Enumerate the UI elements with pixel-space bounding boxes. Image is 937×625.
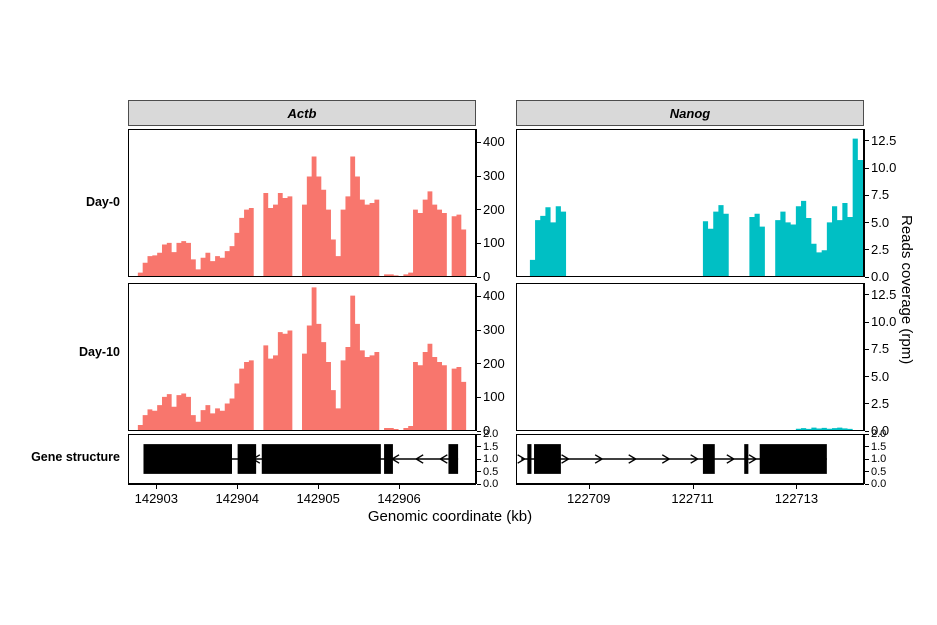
nanog-gene-y-tick-label: 1.0 bbox=[871, 453, 886, 465]
facet-strip-actb: Actb bbox=[128, 100, 476, 126]
nanog-gene-y-tick-label: 1.5 bbox=[871, 441, 886, 453]
actb-day10-y-axis-spine bbox=[476, 283, 477, 431]
exon-block bbox=[262, 444, 381, 474]
actb-day0-y-tick-label: 400 bbox=[483, 134, 505, 149]
actb-gene-y-tick-label: 1.5 bbox=[483, 441, 498, 453]
nanog-x-tick bbox=[796, 485, 797, 489]
nanog-day0-y-tick-label: 5.0 bbox=[871, 215, 889, 230]
nanog-gene-y-tick bbox=[865, 484, 869, 485]
panel-gene-structure-actb bbox=[128, 434, 476, 484]
nanog-x-tick bbox=[589, 485, 590, 489]
nanog-day0-y-tick-label: 12.5 bbox=[871, 133, 896, 148]
actb-x-tick bbox=[237, 485, 238, 489]
actb-day10-y-tick-label: 100 bbox=[483, 389, 505, 404]
nanog-day10-y-tick-label: 12.5 bbox=[871, 287, 896, 302]
nanog-gene-y-tick bbox=[865, 471, 869, 472]
nanog-day10-y-tick-label: 2.5 bbox=[871, 396, 889, 411]
nanog-x-axis-line bbox=[516, 484, 864, 485]
exon-block bbox=[143, 444, 232, 474]
exon-block bbox=[448, 444, 458, 474]
nanog-day10-y-tick bbox=[865, 403, 869, 404]
actb-x-tick bbox=[399, 485, 400, 489]
actb-x-tick-label: 142904 bbox=[197, 491, 277, 506]
actb-day10-y-tick bbox=[477, 296, 481, 297]
actb-x-tick-label: 142905 bbox=[278, 491, 358, 506]
nanog-day0-y-tick-label: 10.0 bbox=[871, 160, 896, 175]
row-label-day-10: Day-10 bbox=[0, 345, 120, 359]
actb-gene-y-tick-label: 1.0 bbox=[483, 453, 498, 465]
actb-gene-y-tick-label: 2.0 bbox=[483, 428, 498, 440]
actb-gene-y-tick-label: 0.5 bbox=[483, 466, 498, 478]
exon-block bbox=[744, 444, 748, 474]
nanog-day0-y-tick bbox=[865, 277, 869, 278]
nanog-day10-y-tick-label: 10.0 bbox=[871, 314, 896, 329]
exon-block bbox=[238, 444, 257, 474]
actb-gene-y-tick bbox=[477, 434, 481, 435]
panel-actb-day-0 bbox=[128, 129, 476, 277]
actb-day0-y-tick-label: 200 bbox=[483, 202, 505, 217]
nanog-gene-y-tick bbox=[865, 434, 869, 435]
row-label-day-0: Day-0 bbox=[0, 195, 120, 209]
actb-day10-y-tick-label: 200 bbox=[483, 356, 505, 371]
nanog-day0-y-tick bbox=[865, 249, 869, 250]
actb-day10-y-tick-label: 300 bbox=[483, 322, 505, 337]
coverage-trace-actb-day-10 bbox=[129, 284, 475, 430]
nanog-day0-y-axis-spine bbox=[864, 129, 865, 277]
nanog-gene-y-tick-label: 0.0 bbox=[871, 478, 886, 490]
actb-gene-y-tick bbox=[477, 446, 481, 447]
panel-gene-structure-nanog bbox=[516, 434, 864, 484]
y-axis-title-right: Reads coverage (rpm) bbox=[898, 215, 915, 364]
facet-strip-label: Actb bbox=[288, 106, 317, 121]
actb-gene-y-tick bbox=[477, 484, 481, 485]
nanog-x-tick-label: 122713 bbox=[756, 491, 836, 506]
actb-day10-y-tick bbox=[477, 397, 481, 398]
nanog-day10-y-tick bbox=[865, 294, 869, 295]
actb-x-tick bbox=[156, 485, 157, 489]
nanog-day10-y-tick-label: 7.5 bbox=[871, 341, 889, 356]
nanog-day10-y-tick bbox=[865, 431, 869, 432]
nanog-x-tick-label: 122711 bbox=[653, 491, 733, 506]
nanog-day10-y-tick bbox=[865, 322, 869, 323]
actb-gene-y-tick bbox=[477, 459, 481, 460]
coverage-trace-actb-day-0 bbox=[129, 130, 475, 276]
actb-day0-y-tick bbox=[477, 142, 481, 143]
exon-block bbox=[703, 444, 715, 474]
exon-block bbox=[527, 444, 531, 474]
actb-day0-y-tick bbox=[477, 209, 481, 210]
nanog-gene-y-tick bbox=[865, 459, 869, 460]
actb-day0-y-tick-label: 300 bbox=[483, 168, 505, 183]
nanog-day0-y-tick bbox=[865, 140, 869, 141]
facet-strip-label: Nanog bbox=[670, 106, 710, 121]
actb-day10-y-tick bbox=[477, 330, 481, 331]
nanog-day0-y-tick bbox=[865, 195, 869, 196]
nanog-day0-y-tick bbox=[865, 168, 869, 169]
coverage-trace-nanog-day-0 bbox=[517, 130, 863, 276]
coverage-figure: ActbNanogDay-0Day-10Gene structure010020… bbox=[0, 0, 937, 625]
nanog-day10-y-axis-spine bbox=[864, 283, 865, 431]
coverage-trace-nanog-day-10 bbox=[517, 284, 863, 430]
actb-x-tick-label: 142903 bbox=[116, 491, 196, 506]
actb-day0-y-tick bbox=[477, 176, 481, 177]
actb-x-tick bbox=[318, 485, 319, 489]
actb-day10-y-tick bbox=[477, 431, 481, 432]
actb-day10-y-tick bbox=[477, 363, 481, 364]
row-label-gene-structure: Gene structure bbox=[0, 450, 120, 464]
exon-block bbox=[534, 444, 561, 474]
nanog-day10-y-tick bbox=[865, 349, 869, 350]
actb-x-tick-label: 142906 bbox=[359, 491, 439, 506]
panel-actb-day-10 bbox=[128, 283, 476, 431]
nanog-day0-y-tick bbox=[865, 222, 869, 223]
facet-strip-nanog: Nanog bbox=[516, 100, 864, 126]
nanog-x-tick bbox=[693, 485, 694, 489]
actb-gene-y-tick bbox=[477, 471, 481, 472]
nanog-gene-y-tick-label: 2.0 bbox=[871, 428, 886, 440]
actb-gene-y-tick-label: 0.0 bbox=[483, 478, 498, 490]
actb-day10-y-tick-label: 400 bbox=[483, 288, 505, 303]
nanog-gene-y-tick bbox=[865, 446, 869, 447]
gene-model-nanog bbox=[517, 435, 863, 483]
actb-day0-y-tick-label: 0 bbox=[483, 269, 490, 284]
nanog-day0-y-tick-label: 0.0 bbox=[871, 269, 889, 284]
exon-block bbox=[760, 444, 827, 474]
nanog-x-tick-label: 122709 bbox=[549, 491, 629, 506]
actb-day0-y-axis-spine bbox=[476, 129, 477, 277]
nanog-day10-y-tick-label: 5.0 bbox=[871, 369, 889, 384]
gene-model-actb bbox=[129, 435, 475, 483]
nanog-day0-y-tick-label: 7.5 bbox=[871, 187, 889, 202]
nanog-day0-y-tick-label: 2.5 bbox=[871, 242, 889, 257]
actb-day0-y-tick bbox=[477, 277, 481, 278]
nanog-gene-y-tick-label: 0.5 bbox=[871, 466, 886, 478]
panel-nanog-day-10 bbox=[516, 283, 864, 431]
exon-block bbox=[384, 444, 393, 474]
actb-day0-y-tick bbox=[477, 243, 481, 244]
actb-x-axis-line bbox=[128, 484, 476, 485]
nanog-day10-y-tick bbox=[865, 376, 869, 377]
panel-nanog-day-0 bbox=[516, 129, 864, 277]
x-axis-title: Genomic coordinate (kb) bbox=[0, 508, 900, 525]
actb-day0-y-tick-label: 100 bbox=[483, 235, 505, 250]
